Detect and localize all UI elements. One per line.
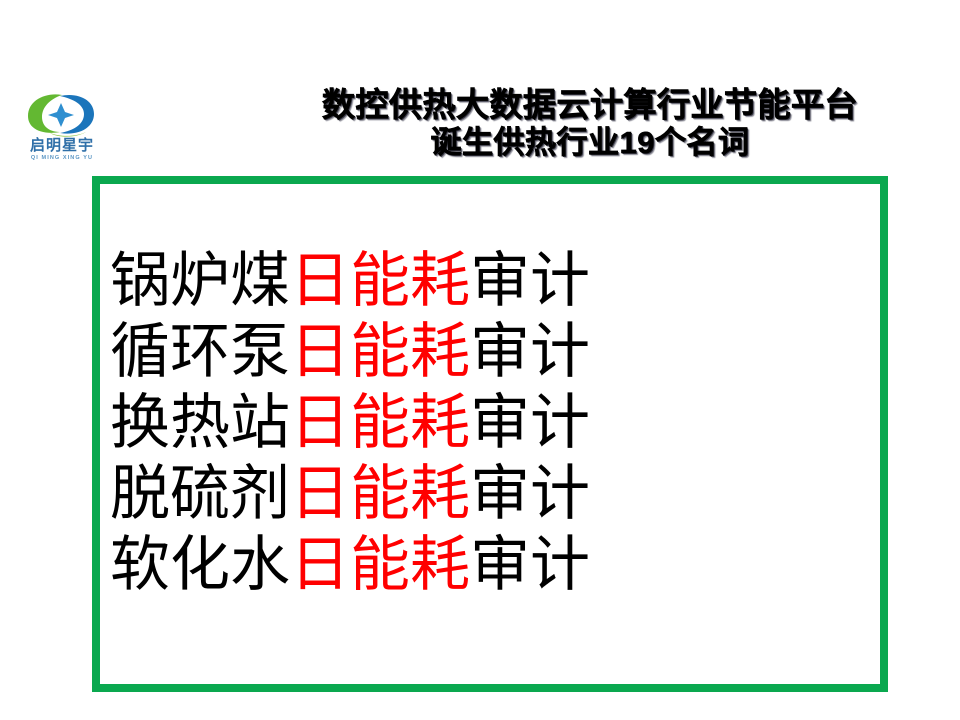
list-item-highlight: 日能耗 (290, 532, 470, 598)
list-item-prefix: 锅炉煤 (110, 248, 290, 314)
title-line-2: 诞生供热行业19个名词 (240, 124, 940, 162)
list-item-prefix: 换热站 (110, 390, 290, 456)
list-item-highlight: 日能耗 (290, 319, 470, 385)
list-item-suffix: 审计 (470, 390, 590, 456)
list-item-prefix: 循环泵 (110, 319, 290, 385)
content-box: 锅炉煤日能耗审计 循环泵日能耗审计 换热站日能耗审计 脱硫剂日能耗审计 软化水日… (92, 176, 888, 692)
list-item-suffix: 审计 (470, 319, 590, 385)
logo-name-text: 启明星宇 (14, 138, 110, 154)
list-item-suffix: 审计 (470, 532, 590, 598)
list-item-suffix: 审计 (470, 461, 590, 527)
list-item-suffix: 审计 (470, 248, 590, 314)
list-item-highlight: 日能耗 (290, 390, 470, 456)
list-item-highlight: 日能耗 (290, 461, 470, 527)
logo-mark-icon (20, 90, 102, 138)
company-logo: 启明星宇 QI MING XING YU (14, 88, 110, 172)
logo-pinyin-text: QI MING XING YU (14, 155, 110, 161)
list-item: 脱硫剂日能耗审计 (110, 459, 880, 530)
list-item: 锅炉煤日能耗审计 (110, 246, 880, 317)
list-item: 软化水日能耗审计 (110, 530, 880, 601)
list-item: 换热站日能耗审计 (110, 388, 880, 459)
slide-title: 数控供热大数据云计算行业节能平台 诞生供热行业19个名词 (240, 86, 940, 162)
list-item-prefix: 软化水 (110, 532, 290, 598)
list-item-prefix: 脱硫剂 (110, 461, 290, 527)
slide: 启明星宇 QI MING XING YU 数控供热大数据云计算行业节能平台 诞生… (0, 0, 960, 720)
title-line-1: 数控供热大数据云计算行业节能平台 (240, 86, 940, 124)
content-list: 锅炉煤日能耗审计 循环泵日能耗审计 换热站日能耗审计 脱硫剂日能耗审计 软化水日… (110, 246, 880, 601)
list-item: 循环泵日能耗审计 (110, 317, 880, 388)
list-item-highlight: 日能耗 (290, 248, 470, 314)
